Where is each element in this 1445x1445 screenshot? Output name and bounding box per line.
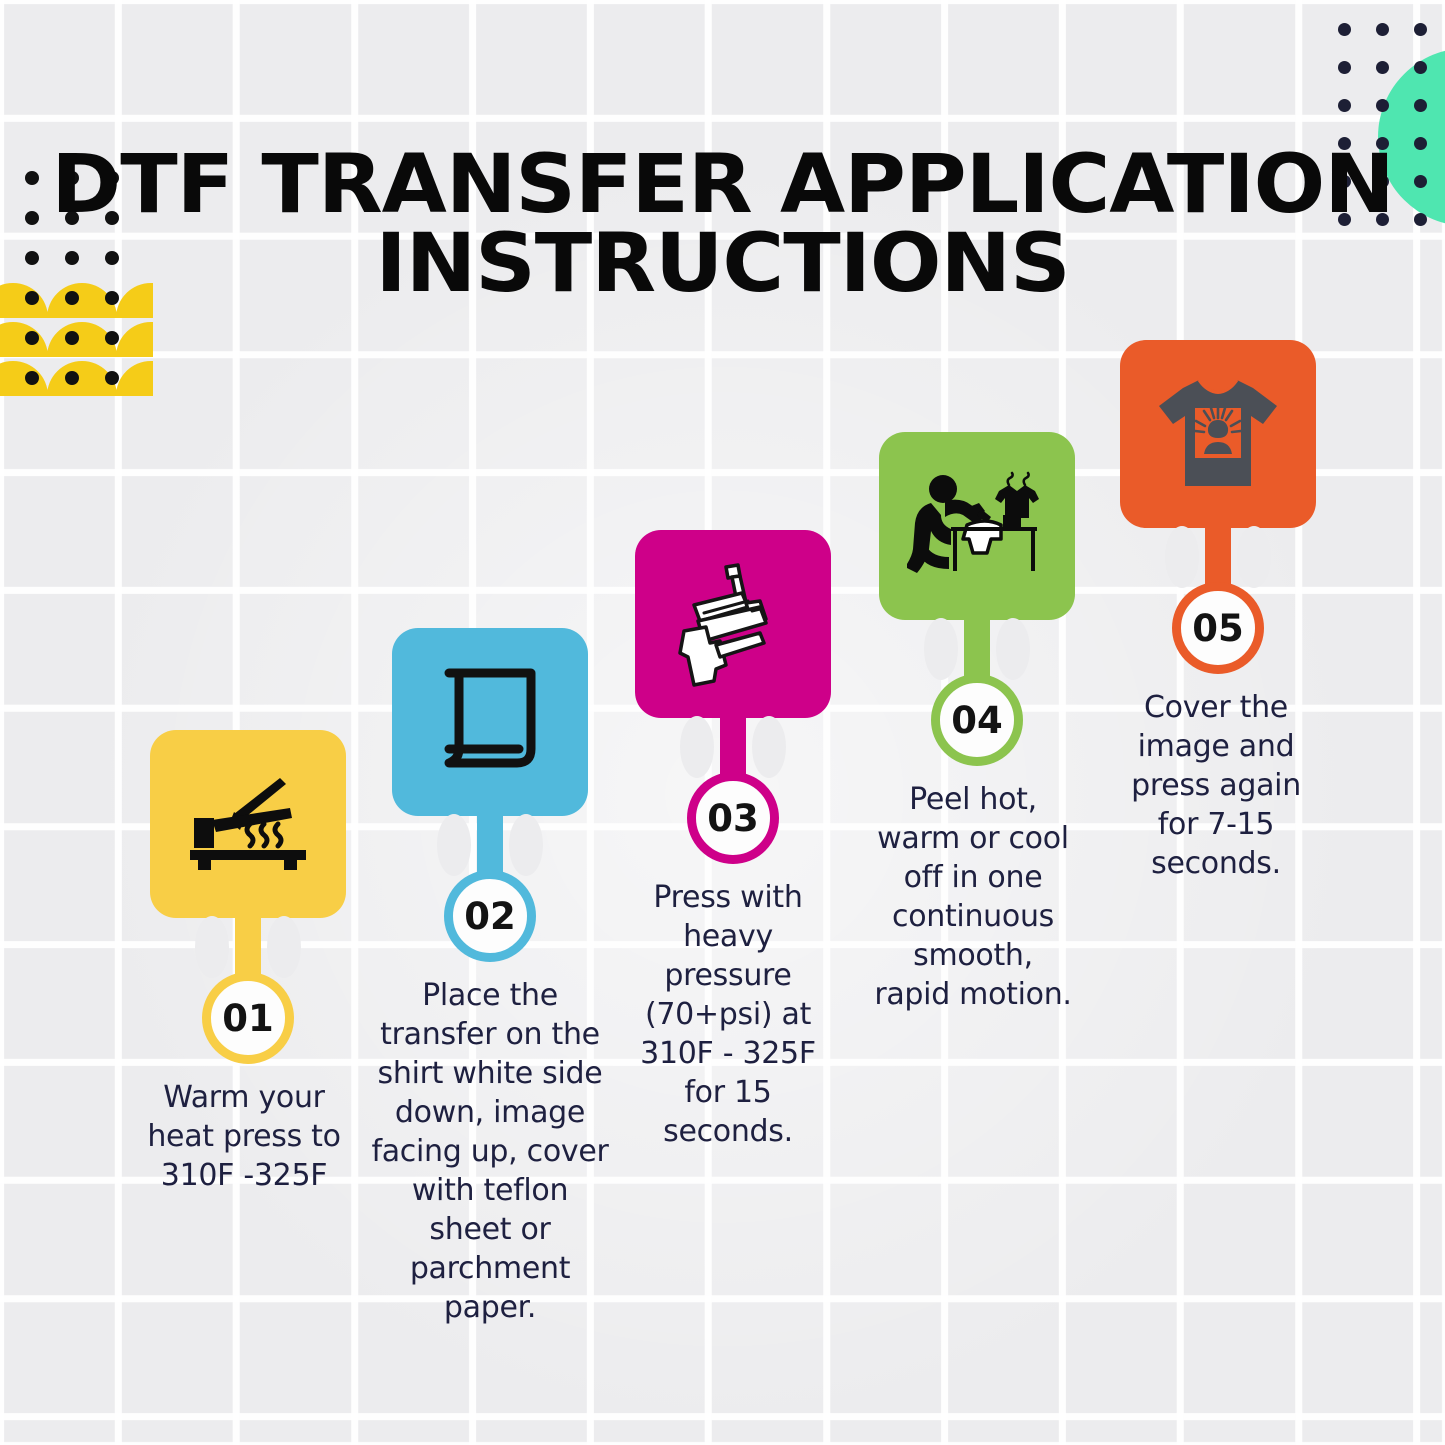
transfer-sheet-icon [431, 663, 549, 781]
worker-peeling-icon [907, 467, 1047, 585]
step-number-badge-04: 04 [931, 674, 1023, 766]
step-item-03[interactable]: 03 Press with heavy pressure (70+psi) at… [613, 530, 853, 1151]
connector-stem-01 [235, 916, 261, 978]
step-item-04[interactable]: 04 Peel hot, warm or cool off in one con… [857, 432, 1097, 1014]
connector-stem-02 [477, 814, 503, 876]
step-caption-05: Cover the image and press again for 7-15… [1110, 688, 1322, 883]
step-number-badge-05: 05 [1172, 582, 1264, 674]
step-caption-01: Warm your heat press to 310F -325F [128, 1078, 360, 1195]
step-icon-card-02 [392, 628, 588, 816]
step-item-01[interactable]: 01 Warm your heat press to 310F -325F [128, 730, 368, 1195]
step-number-label-05: 05 [1192, 607, 1244, 650]
heat-press-machine-icon [668, 559, 798, 689]
step-caption-04: Peel hot, warm or cool off in one contin… [867, 780, 1079, 1014]
connector-stem-05 [1205, 526, 1231, 588]
step-caption-02: Place the transfer on the shirt white si… [365, 976, 615, 1327]
step-icon-card-01 [150, 730, 346, 918]
step-item-05[interactable]: 05 Cover the image and press again for 7… [1098, 340, 1338, 883]
step-icon-card-04 [879, 432, 1075, 620]
step-number-label-01: 01 [222, 997, 274, 1040]
step-item-02[interactable]: 02 Place the transfer on the shirt white… [370, 628, 610, 1327]
step-icon-card-05 [1120, 340, 1316, 528]
steps-container: 01 Warm your heat press to 310F -325F 02… [0, 0, 1445, 1445]
step-number-label-02: 02 [464, 895, 516, 938]
heat-press-open-icon [184, 774, 312, 874]
connector-stem-03 [720, 716, 746, 778]
step-icon-card-03 [635, 530, 831, 718]
step-number-badge-03: 03 [687, 772, 779, 864]
step-number-badge-01: 01 [202, 972, 294, 1064]
step-number-label-04: 04 [951, 699, 1003, 742]
step-number-badge-02: 02 [444, 870, 536, 962]
printed-tshirt-icon [1155, 374, 1281, 494]
step-number-label-03: 03 [707, 797, 759, 840]
step-caption-03: Press with heavy pressure (70+psi) at 31… [613, 878, 843, 1151]
connector-stem-04 [964, 618, 990, 680]
